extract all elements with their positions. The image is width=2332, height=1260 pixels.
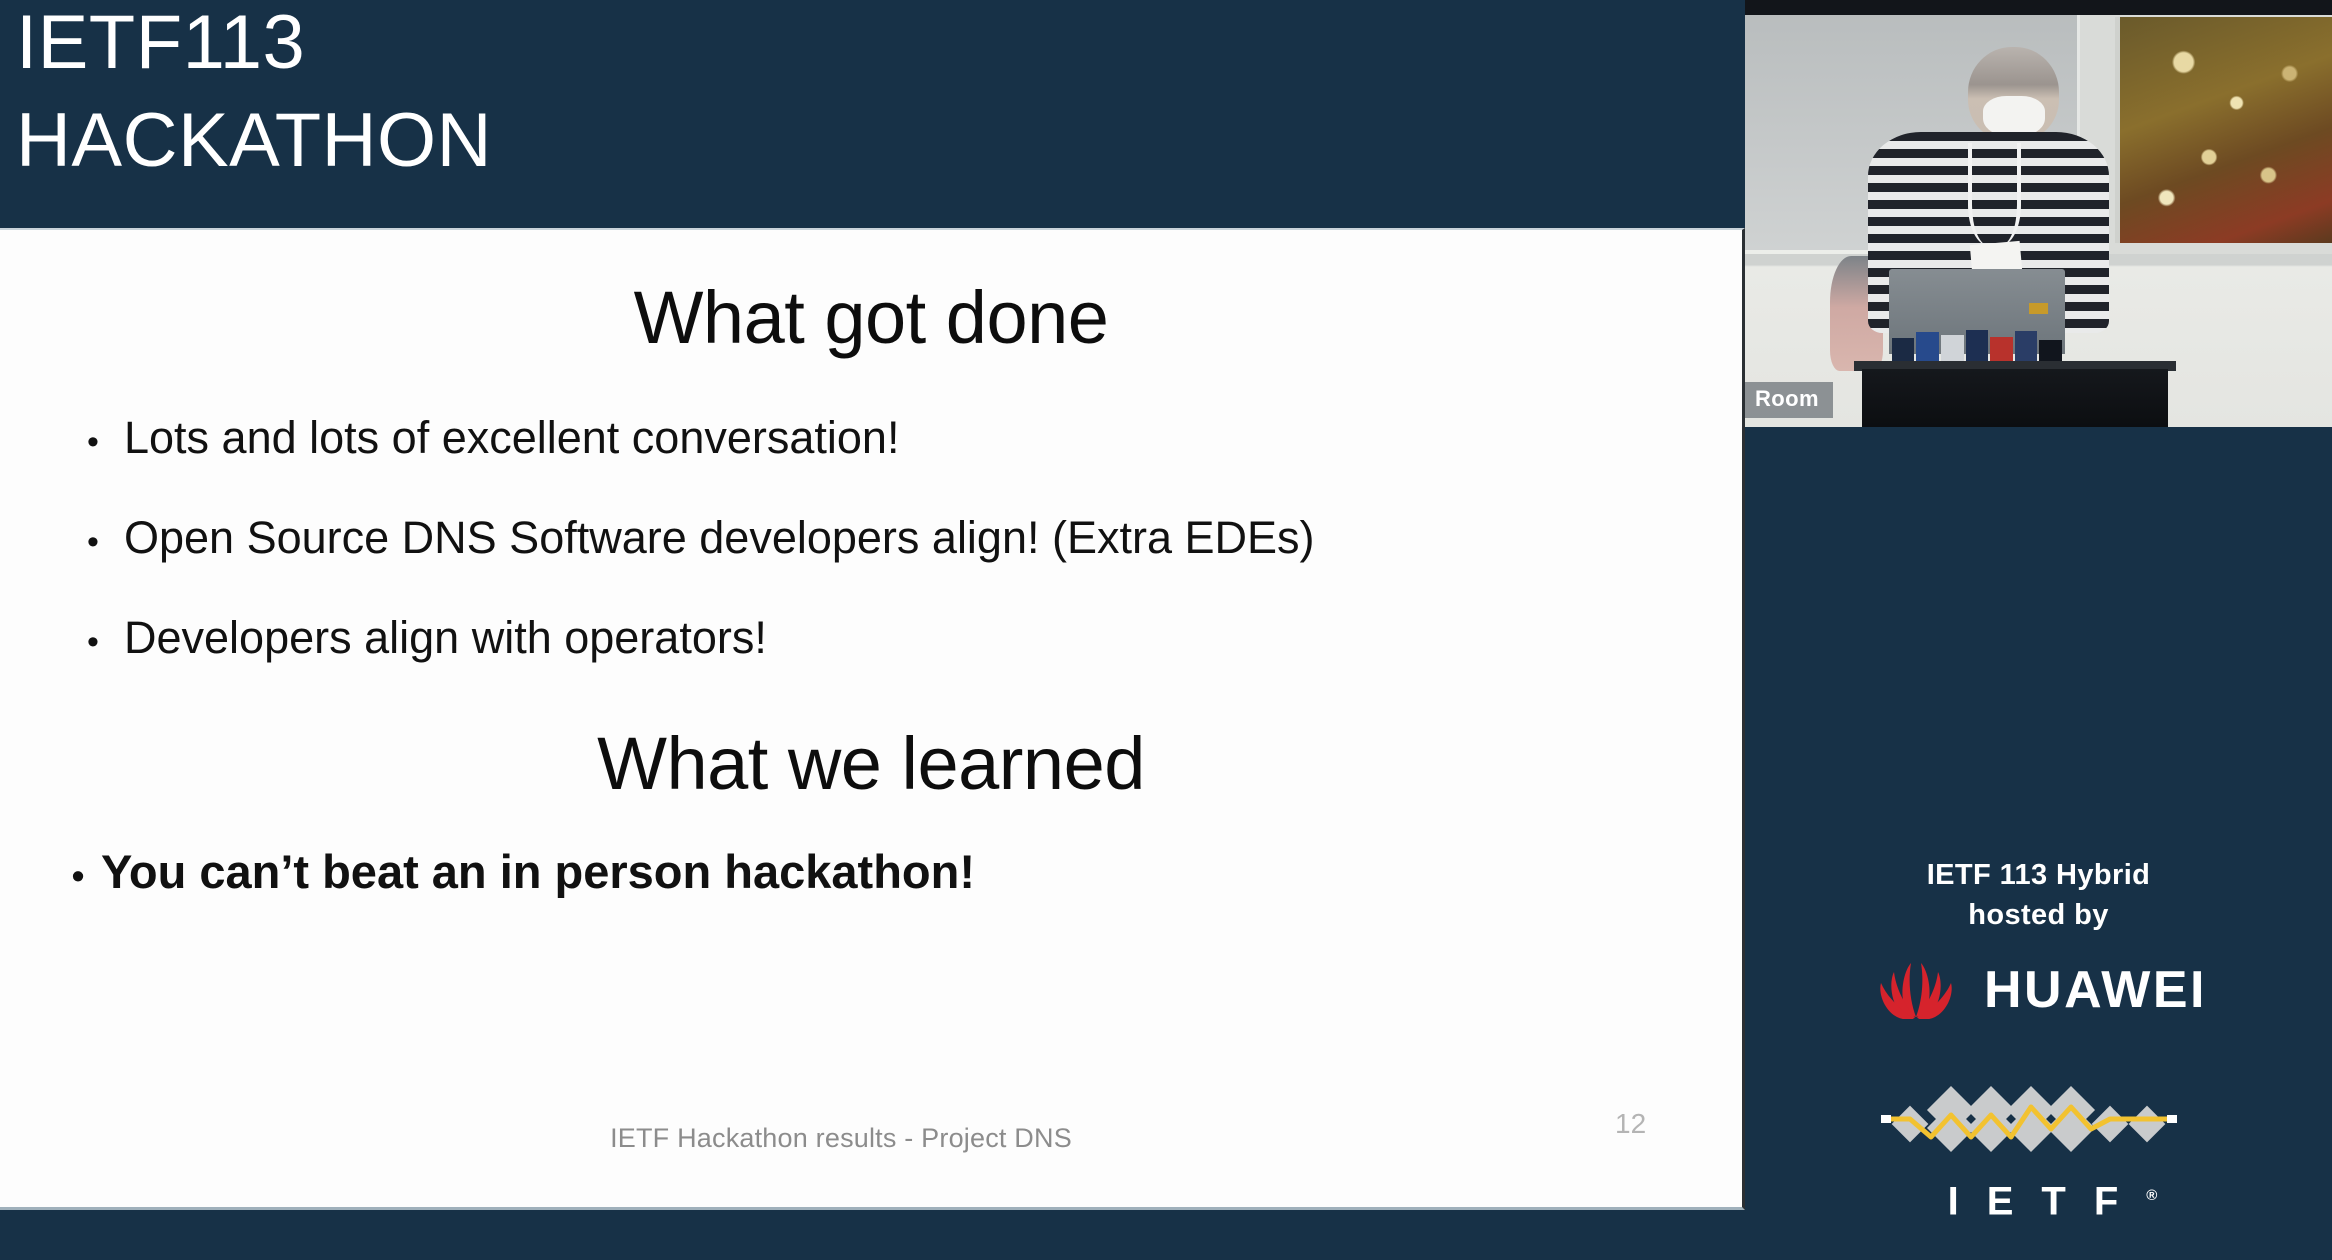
bullet-dot-icon: •: [62, 616, 124, 668]
shared-screen-presentation: IETF113 HACKATHON What got done • Lots a…: [0, 0, 1745, 1260]
sticker: [1916, 332, 1939, 365]
huawei-flower-icon: [1870, 961, 1962, 1019]
ietf-wordmark: IETF®: [1745, 1173, 2332, 1224]
sticker: [1966, 330, 1989, 365]
sponsor-block: IETF 113 Hybrid hosted by HUAWEI: [1745, 855, 2332, 1019]
list-item: • Lots and lots of excellent conversatio…: [62, 412, 1742, 468]
face-mask: [1983, 96, 2045, 137]
slide-body: What got done • Lots and lots of excelle…: [0, 228, 1745, 1210]
ietf-letters: IETF: [1948, 1179, 2147, 1223]
list-item: • Developers align with operators!: [62, 612, 1742, 668]
slide-title-line-1: IETF113: [16, 0, 1745, 92]
footer-label: IETF Hackathon results - Project DNS: [0, 1123, 1742, 1154]
bullet-text: You can’t beat an in person hackathon!: [101, 846, 1742, 898]
bullet-text: Open Source DNS Software developers alig…: [124, 512, 1742, 564]
meeting-stage: IETF113 HACKATHON What got done • Lots a…: [0, 0, 2332, 1260]
trademark-symbol: ®: [2146, 1187, 2157, 1204]
slide-title-band: IETF113 HACKATHON: [0, 0, 1745, 228]
sticker: [2015, 331, 2038, 365]
video-room-label: Room: [1745, 382, 1833, 418]
right-sidebar: Room IETF 113 Hybrid hosted by HUAWEI: [1745, 0, 2332, 1260]
section-heading-what-got-done: What got done: [0, 278, 1742, 358]
list-item: • Open Source DNS Software developers al…: [62, 512, 1742, 568]
slide-title-line-2: HACKATHON: [16, 92, 1745, 190]
bullet-dot-icon: •: [62, 516, 124, 568]
host-line-2: hosted by: [1745, 895, 2332, 935]
podium-stickers: [1892, 327, 2062, 365]
slide-footer: IETF Hackathon results - Project DNS 12: [0, 1115, 1742, 1185]
list-item: • You can’t beat an in person hackathon!: [55, 846, 1742, 902]
bullet-text: Lots and lots of excellent conversation!: [124, 412, 1742, 464]
bullet-dot-icon: •: [62, 416, 124, 468]
ietf-diamond-icon: [1879, 1085, 2199, 1163]
what-we-learned-bullet-list: • You can’t beat an in person hackathon!: [0, 846, 1742, 902]
wall-artwork: [2115, 17, 2332, 243]
what-got-done-bullet-list: • Lots and lots of excellent conversatio…: [0, 412, 1742, 668]
laptop-logo-icon: [2029, 303, 2049, 314]
huawei-wordmark: HUAWEI: [1984, 964, 2207, 1016]
lanyard: [1968, 143, 2021, 245]
podium: [1862, 369, 2167, 427]
slide-page-number: 12: [1615, 1107, 1649, 1140]
host-line-1: IETF 113 Hybrid: [1745, 855, 2332, 895]
section-heading-what-we-learned: What we learned: [0, 724, 1742, 804]
huawei-logo: HUAWEI: [1745, 961, 2332, 1019]
bullet-text: Developers align with operators!: [124, 612, 1742, 664]
ietf-logo: IETF®: [1745, 1085, 2332, 1224]
bullet-dot-icon: •: [55, 850, 101, 902]
speaker-video-tile[interactable]: Room: [1745, 0, 2332, 427]
